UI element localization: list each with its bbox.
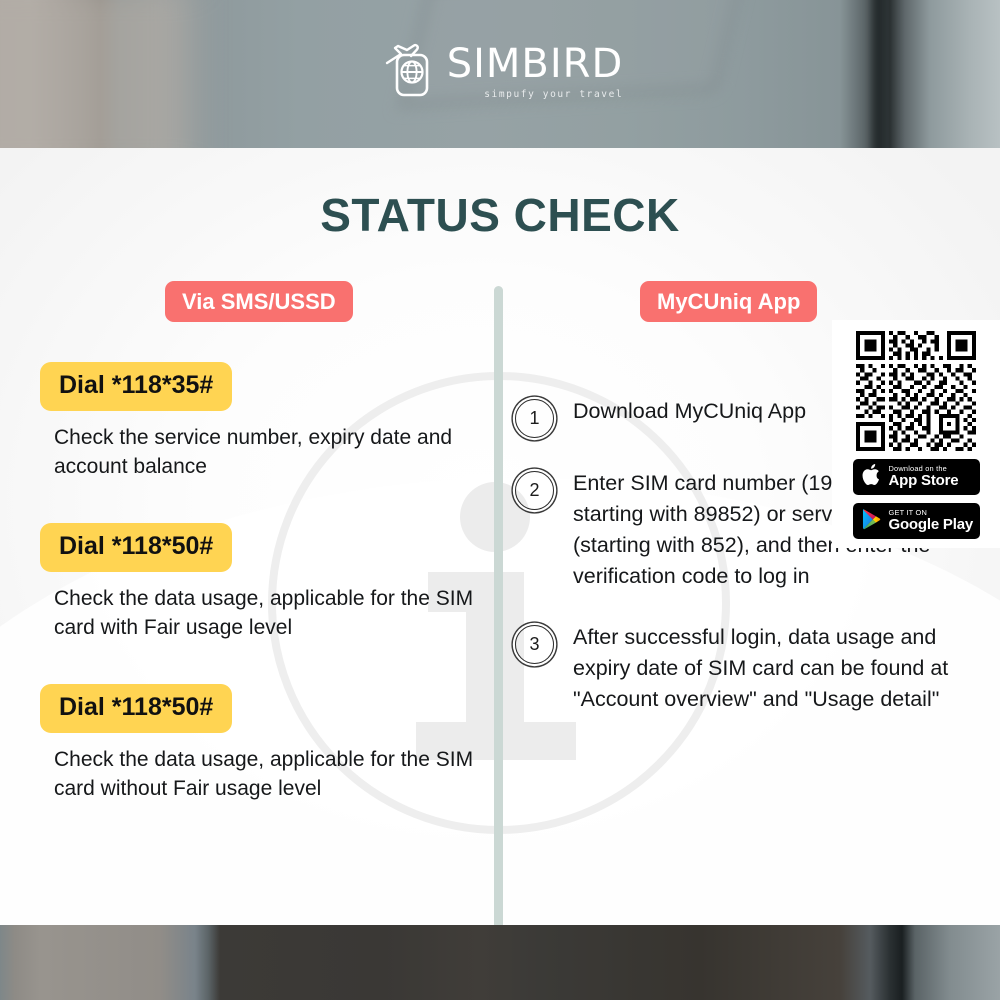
google-play-button[interactable]: GET IT ON Google Play: [853, 503, 980, 539]
step-number-badge: 3: [515, 625, 554, 664]
app-store-label: Download on the App Store: [889, 465, 959, 489]
dial-description: Check the service number, expiry date an…: [54, 424, 490, 482]
dial-item: Dial *118*50# Check the data usage, appl…: [40, 523, 490, 643]
step-text: Download MyCUniq App: [573, 396, 806, 427]
step-number-badge: 2: [515, 471, 554, 510]
download-panel: Download on the App Store: [832, 320, 1000, 548]
sms-ussd-column: Dial *118*35# Check the service number, …: [40, 362, 490, 810]
logo-tagline: simpufy your travel: [484, 89, 623, 100]
step-text: After successful login, data usage and e…: [573, 622, 970, 715]
column-divider: [494, 286, 503, 972]
dial-description: Check the data usage, applicable for the…: [54, 585, 490, 643]
brand-logo: SIMBIRD simpufy your travel: [0, 40, 1000, 103]
app-store-button[interactable]: Download on the App Store: [853, 459, 980, 495]
step-item: 3 After successful login, data usage and…: [515, 622, 970, 715]
dial-code-badge[interactable]: Dial *118*35#: [40, 362, 232, 411]
bottom-banner-photo: [0, 925, 1000, 1000]
google-play-big-text: Google Play: [889, 517, 974, 533]
badge-mycuniq-app: MyCUniq App: [640, 281, 817, 322]
qr-code[interactable]: [856, 331, 976, 451]
logo-wordmark: SIMBIRD simpufy your travel: [447, 44, 624, 100]
dial-item: Dial *118*35# Check the service number, …: [40, 362, 490, 482]
google-play-label: GET IT ON Google Play: [889, 509, 974, 533]
google-play-icon: [862, 508, 882, 535]
dial-code-badge[interactable]: Dial *118*50#: [40, 523, 232, 572]
dial-description: Check the data usage, applicable for the…: [54, 746, 490, 804]
apple-icon: [862, 463, 882, 492]
simbird-plane-passport-icon: [377, 40, 439, 103]
badge-via-sms-ussd: Via SMS/USSD: [165, 281, 353, 322]
content-card: STATUS CHECK Via SMS/USSD MyCUniq App Di…: [0, 148, 1000, 925]
step-number-badge: 1: [515, 399, 554, 438]
dial-item: Dial *118*50# Check the data usage, appl…: [40, 684, 490, 804]
app-store-big-text: App Store: [889, 473, 959, 489]
status-check-poster: SIMBIRD simpufy your travel STATUS CHECK…: [0, 0, 1000, 1000]
page-title: STATUS CHECK: [0, 188, 1000, 242]
top-banner-photo: SIMBIRD simpufy your travel: [0, 0, 1000, 148]
dial-code-badge[interactable]: Dial *118*50#: [40, 684, 232, 733]
logo-name: SIMBIRD: [447, 44, 624, 84]
